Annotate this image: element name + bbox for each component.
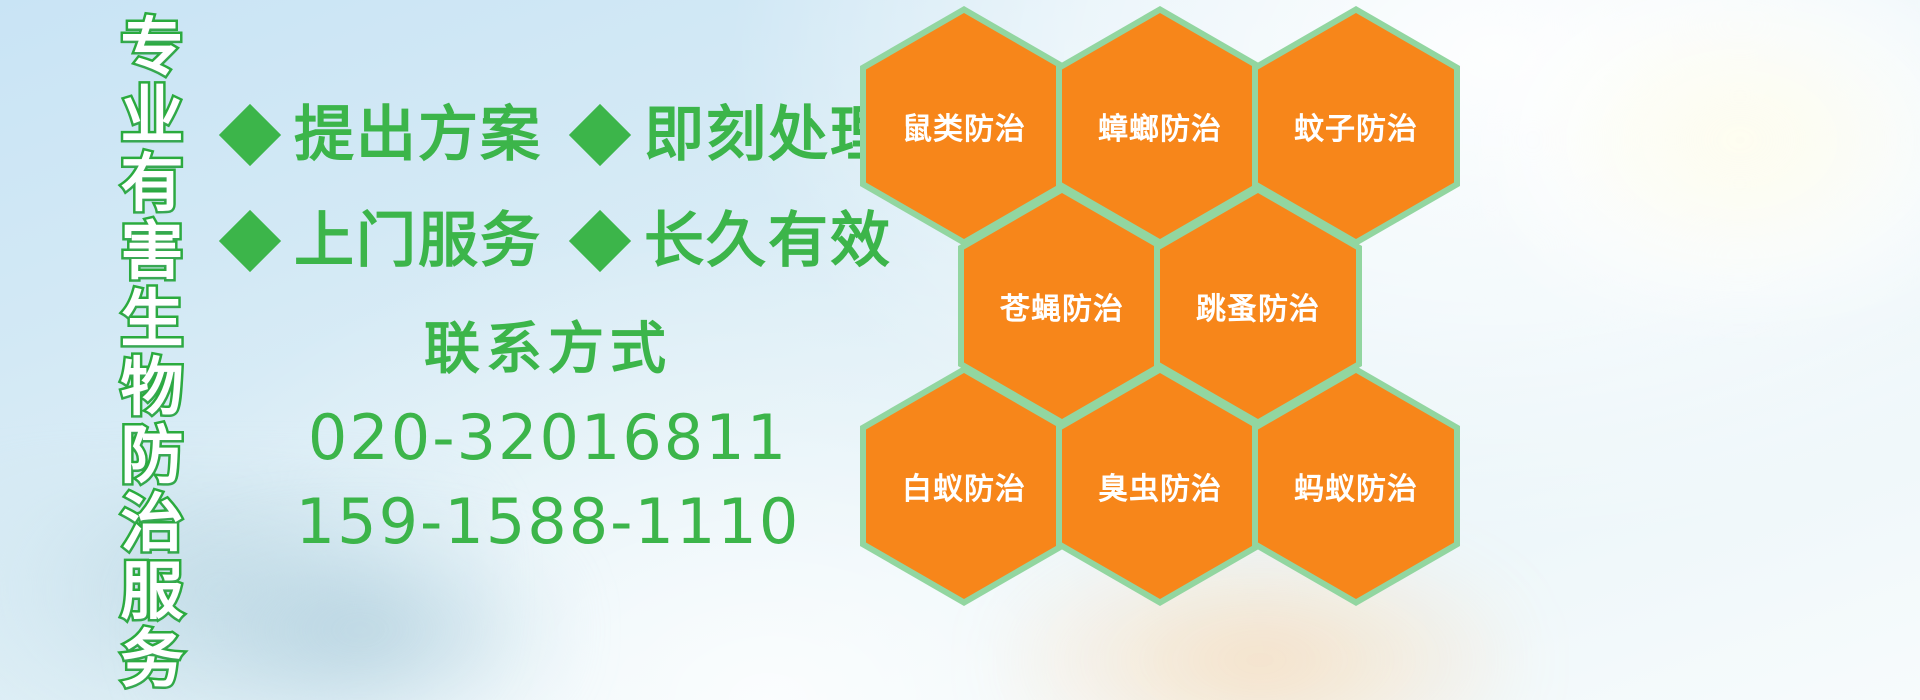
diamond-icon: [219, 210, 281, 272]
diamond-icon: [569, 210, 631, 272]
contact-block: 联系方式 020-32016811 159-1588-1110: [228, 318, 868, 564]
slogan-item-3: 上门服务: [228, 211, 542, 271]
slogan-label: 即刻处理: [644, 105, 892, 165]
hex-label: 白蚁防治: [902, 464, 1026, 508]
slogan-label: 提出方案: [294, 105, 542, 165]
hex-label: 跳蚤防治: [1196, 284, 1320, 328]
hex-label: 蚊子防治: [1294, 104, 1418, 148]
phone-landline[interactable]: 020-32016811: [228, 396, 868, 480]
slogan-item-1: 提出方案: [228, 105, 542, 165]
hex-label: 苍蝇防治: [1000, 284, 1124, 328]
slogan-item-4: 长久有效: [578, 211, 892, 271]
hex-fill: 臭虫防治: [1062, 373, 1258, 599]
hex-fill: 蚂蚁防治: [1258, 373, 1454, 599]
slogan-item-2: 即刻处理: [578, 105, 892, 165]
hex-label: 鼠类防治: [902, 104, 1026, 148]
background-blur-top-right: [1480, 0, 1920, 320]
service-honeycomb: 鼠类防治 蟑螂防治 蚊子防治 苍蝇防治 跳蚤防治 白蚁防治: [860, 0, 1460, 620]
slogan-label: 上门服务: [294, 211, 542, 271]
pest-control-banner: 专 业 有 害 生 物 防 治 服 务 提出方案 即刻处理 上门服务 长久有效: [0, 0, 1920, 700]
contact-title: 联系方式: [228, 318, 868, 382]
hex-label: 臭虫防治: [1098, 464, 1222, 508]
slogan-label: 长久有效: [644, 211, 892, 271]
vertical-headline: 专 业 有 害 生 物 防 治 服 务: [104, 14, 200, 694]
slogan-block: 提出方案 即刻处理 上门服务 长久有效: [228, 82, 868, 294]
hex-label: 蚂蚁防治: [1294, 464, 1418, 508]
phone-mobile[interactable]: 159-1588-1110: [228, 480, 868, 564]
slogan-row-2: 上门服务 长久有效: [228, 188, 868, 294]
diamond-icon: [569, 104, 631, 166]
hex-fill: 白蚁防治: [866, 373, 1062, 599]
hex-label: 蟑螂防治: [1098, 104, 1222, 148]
slogan-row-1: 提出方案 即刻处理: [228, 82, 868, 188]
diamond-icon: [219, 104, 281, 166]
